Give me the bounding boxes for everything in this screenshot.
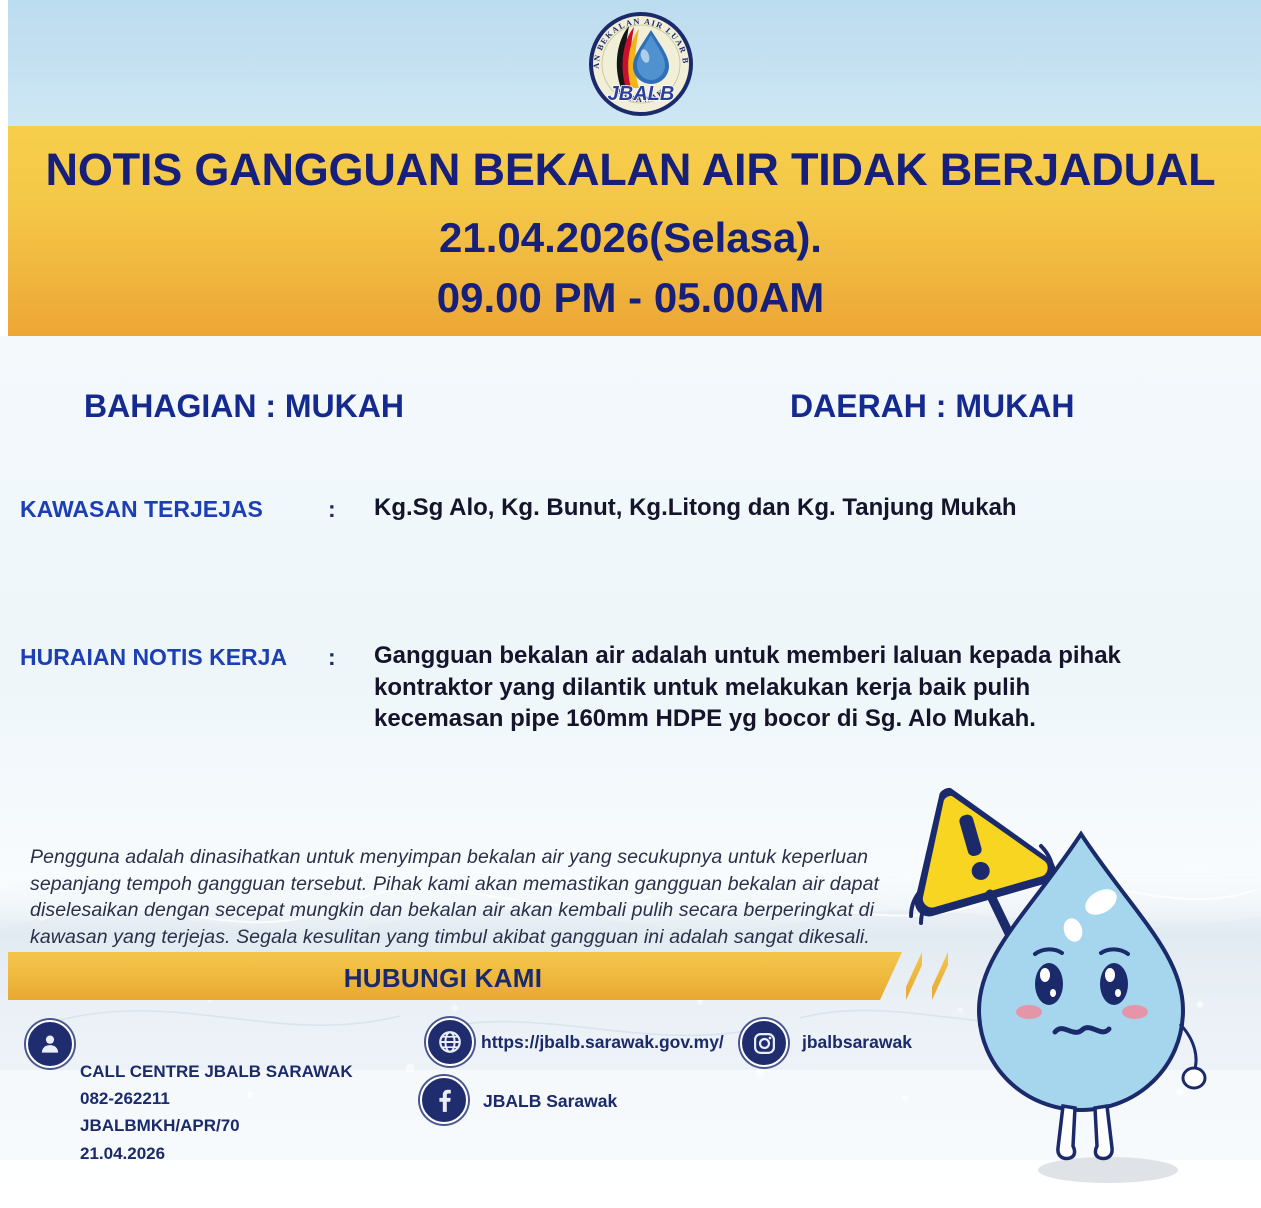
mascot-eyebrows <box>1035 949 1128 954</box>
notice-date: 21.04.2026(Selasa). <box>0 214 1261 262</box>
mascot-right-hand <box>1183 1068 1205 1088</box>
kawasan-terjejas-colon: : <box>328 496 336 523</box>
huraian-notis-kerja-label: HURAIAN NOTIS KERJA <box>20 644 287 671</box>
huraian-notis-kerja-colon: : <box>328 644 336 671</box>
call-centre-text: CALL CENTRE JBALB SARAWAK 082-262211 JBA… <box>80 1058 353 1167</box>
kawasan-terjejas-label: KAWASAN TERJEJAS <box>20 496 263 523</box>
mascot-left-arm <box>1018 952 1030 990</box>
mascot-shadow <box>1038 1157 1178 1183</box>
instagram-handle[interactable]: jbalbsarawak <box>802 1032 912 1053</box>
logo-header-band: JABATAN BEKALAN AIR LUAR BANDAR SARAWAK … <box>0 0 1261 126</box>
kawasan-terjejas-value: Kg.Sg Alo, Kg. Bunut, Kg.Litong dan Kg. … <box>374 492 1154 524</box>
banner-stripe-1 <box>906 952 922 1000</box>
notice-time-range: 09.00 PM - 05.00AM <box>0 274 1261 322</box>
svg-text:JBALB: JBALB <box>608 83 675 105</box>
website-url[interactable]: https://jbalb.sarawak.gov.my/ <box>481 1032 724 1053</box>
mascot-highlight-small <box>1061 916 1086 944</box>
page-title: NOTIS GANGGUAN BEKALAN AIR TIDAK BERJADU… <box>0 144 1261 196</box>
bahagian-label: BAHAGIAN : MUKAH <box>84 388 404 425</box>
mascot-mouth <box>1055 1028 1109 1033</box>
notice-title-band: NOTIS GANGGUAN BEKALAN AIR TIDAK BERJADU… <box>0 126 1261 336</box>
mascot-eyes <box>1035 963 1128 1005</box>
advisory-paragraph: Pengguna adalah dinasihatkan untuk menyi… <box>30 844 910 950</box>
mascot-highlight-large <box>1081 884 1121 920</box>
mascot-blush <box>1016 1005 1148 1019</box>
facebook-handle[interactable]: JBALB Sarawak <box>483 1091 617 1112</box>
left-edge-strip <box>0 0 8 126</box>
mascot-droplet-body <box>979 834 1183 1110</box>
facebook-icon[interactable] <box>420 1076 468 1124</box>
banner-stripe-2 <box>932 952 948 1000</box>
globe-icon[interactable] <box>426 1018 474 1066</box>
globe-icon-glyph <box>437 1029 463 1055</box>
water-droplet-mascot-with-warning-sign <box>895 762 1261 1192</box>
person-icon-glyph <box>37 1031 63 1057</box>
facebook-icon-glyph <box>431 1087 457 1113</box>
instagram-icon[interactable] <box>740 1019 788 1067</box>
person-icon[interactable] <box>26 1020 74 1068</box>
jbalb-sarawak-logo-icon: JABATAN BEKALAN AIR LUAR BANDAR SARAWAK … <box>585 4 697 120</box>
huraian-notis-kerja-value: Gangguan bekalan air adalah untuk member… <box>374 640 1154 735</box>
sign-pole <box>990 894 1019 954</box>
mascot-right-arm <box>1180 1024 1196 1072</box>
instagram-icon-glyph <box>752 1031 777 1056</box>
hubungi-kami-label: HUBUNGI KAMI <box>8 963 878 994</box>
hubungi-kami-banner: HUBUNGI KAMI <box>8 952 902 1000</box>
warning-triangle-icon <box>895 766 1059 920</box>
mascot-legs <box>1058 1106 1112 1159</box>
region-row: BAHAGIAN : MUKAH DAERAH : MUKAH <box>0 388 1261 436</box>
mascot-left-hand <box>1007 940 1029 958</box>
water-supply-disruption-notice: JABATAN BEKALAN AIR LUAR BANDAR SARAWAK … <box>0 0 1261 1208</box>
sign-motion-lines <box>911 846 1053 923</box>
daerah-label: DAERAH : MUKAH <box>790 388 1074 425</box>
jbalb-sarawak-logo: JABATAN BEKALAN AIR LUAR BANDAR SARAWAK … <box>585 4 697 120</box>
